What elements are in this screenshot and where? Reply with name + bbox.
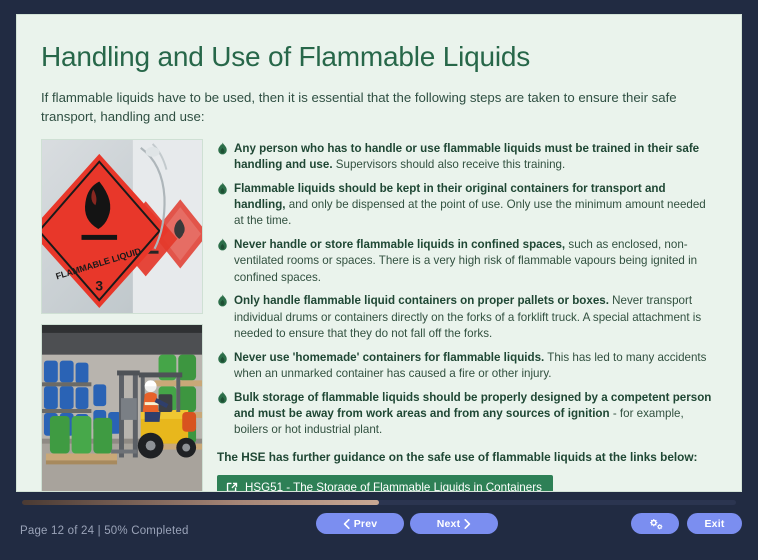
list-item: Only handle flammable liquid containers …	[217, 293, 717, 342]
content-columns: FLAMMABLE LIQUID 3	[41, 139, 717, 492]
forklift-illustration	[42, 325, 202, 492]
list-item: Flammable liquids should be kept in thei…	[217, 181, 717, 230]
prev-button-label: Prev	[354, 518, 378, 530]
next-button-label: Next	[437, 518, 461, 530]
prev-button[interactable]: Prev	[316, 513, 404, 534]
course-progress-fill	[22, 500, 379, 505]
chevron-left-icon	[343, 519, 350, 529]
flame-icon	[217, 238, 228, 251]
list-item-bold-text: Never handle or store flammable liquids …	[234, 238, 565, 251]
page-status-text: Page 12 of 24 | 50% Completed	[20, 525, 189, 537]
text-column: Any person who has to handle or use flam…	[217, 139, 717, 492]
external-link-icon	[226, 481, 238, 492]
flame-icon	[217, 182, 228, 195]
placards-illustration: FLAMMABLE LIQUID 3	[42, 140, 202, 313]
list-item: Never use 'homemade' containers for flam…	[217, 350, 717, 383]
settings-button[interactable]	[631, 513, 679, 534]
svg-text:3: 3	[95, 277, 103, 293]
flame-icon	[217, 142, 228, 155]
list-item-bold-text: Only handle flammable liquid containers …	[234, 294, 609, 307]
list-item: Bulk storage of flammable liquids should…	[217, 390, 717, 439]
link-button-hsg51[interactable]: HSG51 - The Storage of Flammable Liquids…	[217, 475, 553, 492]
list-item: Any person who has to handle or use flam…	[217, 141, 717, 174]
gears-icon	[647, 517, 664, 530]
media-column: FLAMMABLE LIQUID 3	[41, 139, 203, 492]
flame-icon	[217, 294, 228, 307]
flame-icon	[217, 391, 228, 404]
photo-forklift-warehouse	[41, 324, 203, 492]
chevron-right-icon	[464, 519, 471, 529]
exit-button-label: Exit	[704, 518, 724, 530]
list-item: Never handle or store flammable liquids …	[217, 237, 717, 286]
hse-guidance-note: The HSE has further guidance on the safe…	[217, 450, 717, 464]
guidance-bullet-list: Any person who has to handle or use flam…	[217, 141, 717, 439]
flame-icon	[217, 351, 228, 364]
photo-flammable-placards: FLAMMABLE LIQUID 3	[41, 139, 203, 314]
list-item-text: Supervisors should also receive this tra…	[333, 158, 566, 171]
exit-button[interactable]: Exit	[687, 513, 742, 534]
slide-content-card: Handling and Use of Flammable Liquids If…	[16, 14, 742, 492]
link-button-group: HSG51 - The Storage of Flammable Liquids…	[217, 475, 717, 492]
list-item-text: and only be dispensed at the point of us…	[234, 198, 706, 227]
link-button-label: HSG51 - The Storage of Flammable Liquids…	[245, 481, 542, 492]
page-title: Handling and Use of Flammable Liquids	[41, 41, 717, 73]
course-progress-bar	[22, 500, 736, 505]
list-item-bold-text: Never use 'homemade' containers for flam…	[234, 351, 544, 364]
next-button[interactable]: Next	[410, 513, 498, 534]
intro-paragraph: If flammable liquids have to be used, th…	[41, 89, 717, 126]
